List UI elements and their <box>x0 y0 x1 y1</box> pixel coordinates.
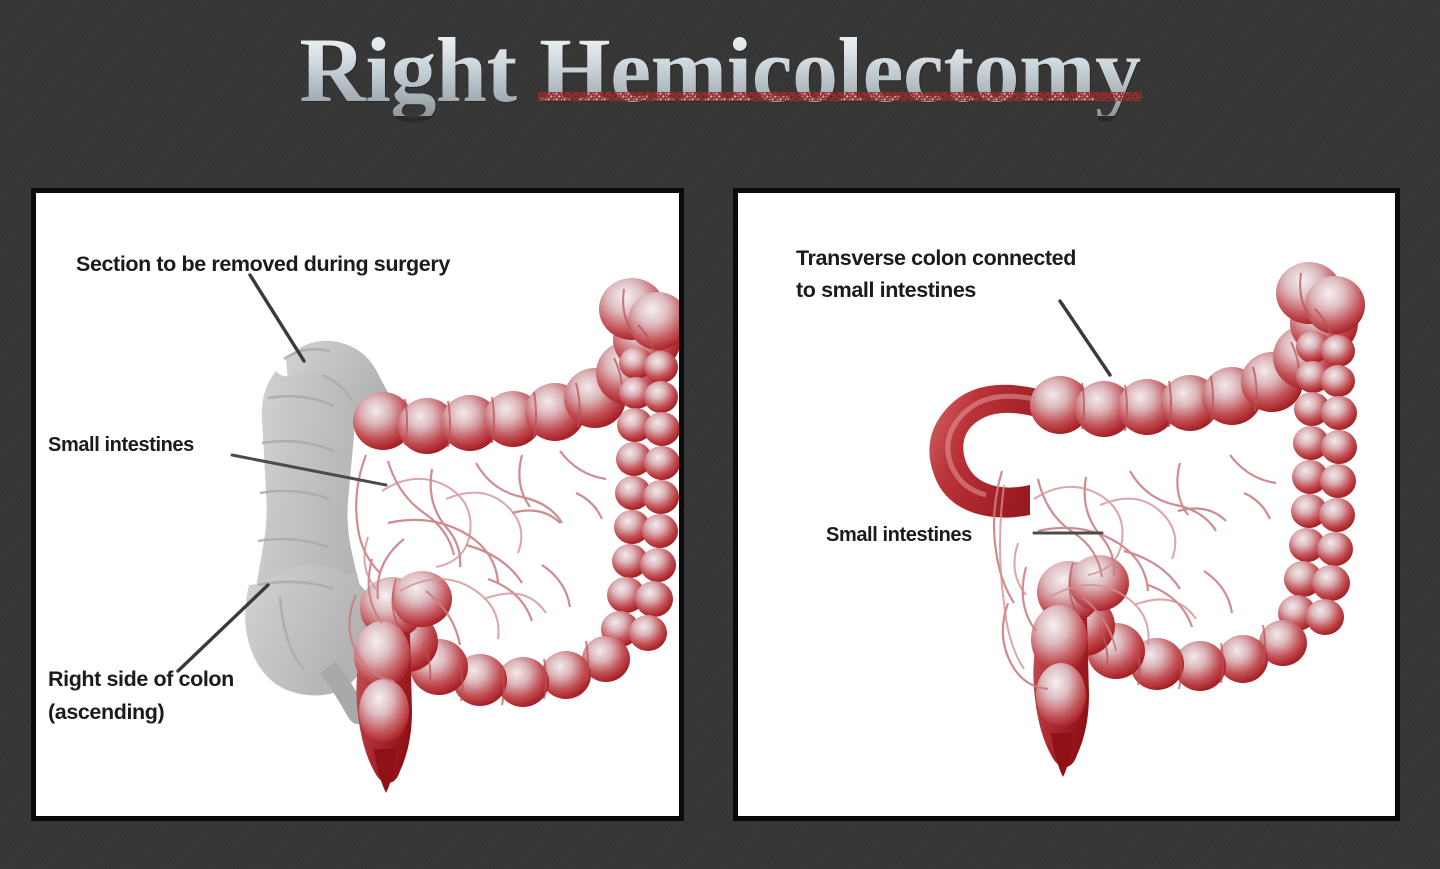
before-surgery-diagram: Section to be removed during surgery Sma… <box>31 188 684 821</box>
title-bar: Right Hemicolectomy Right Hemicolectomy <box>0 10 1440 130</box>
label-section-removed: Section to be removed during surgery <box>76 252 450 276</box>
leader-transverse-connected <box>1060 301 1110 375</box>
leader-section-removed <box>250 275 304 361</box>
label-small-intestines: Small intestines <box>48 434 194 456</box>
after-surgery-diagram: Transverse colon connected to small inte… <box>733 188 1400 821</box>
rectum-shape <box>1031 605 1089 777</box>
anastomosis-hook-shape <box>929 385 1038 518</box>
rectum-shape <box>354 621 412 793</box>
label-right-colon-line2: (ascending) <box>48 700 164 724</box>
label-transverse-connected-line2: to small intestines <box>796 278 976 302</box>
label-small-intestines: Small intestines <box>826 524 972 546</box>
colon-shape <box>349 278 679 793</box>
colon-shape <box>994 262 1365 777</box>
label-right-colon-line1: Right side of colon <box>48 667 234 691</box>
spellcheck-underline-icon <box>538 92 1142 101</box>
label-transverse-connected-line1: Transverse colon connected <box>796 246 1076 270</box>
page-title: Right Hemicolectomy <box>299 24 1140 116</box>
